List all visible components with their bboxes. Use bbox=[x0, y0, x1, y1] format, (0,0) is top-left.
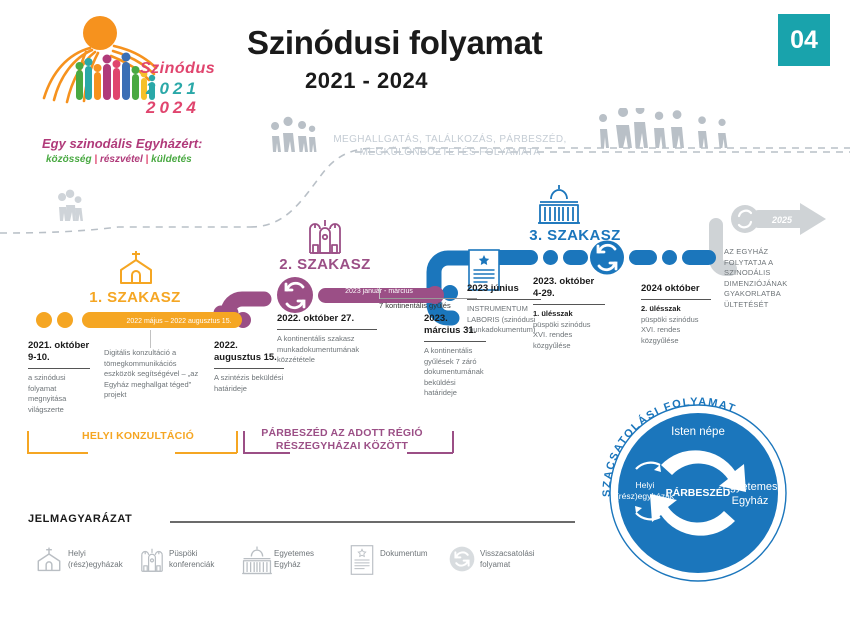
milestone-desc: A szintézis beküldési határideje bbox=[214, 373, 284, 394]
milestone-leader-line-digital bbox=[150, 330, 151, 348]
feedback-left-label-2: (rész)egyházak bbox=[616, 491, 675, 501]
bracket-local-label: HELYI KONZULTÁCIÓ bbox=[78, 430, 198, 443]
document-icon bbox=[350, 545, 374, 575]
legend-label: EgyetemesEgyház bbox=[274, 548, 354, 570]
feedback-left-label-1: Helyi bbox=[636, 480, 655, 490]
milestone-rule bbox=[533, 304, 605, 305]
milestone-rule bbox=[28, 368, 90, 369]
milestone-desc-bold: 1. ülésszak bbox=[533, 309, 605, 320]
future-year-label: 2025 bbox=[760, 215, 804, 225]
legend-label: Visszacsatolásifolyamat bbox=[480, 548, 560, 570]
milestone-desc: A kontinentális szakasz munkadokumentumá… bbox=[277, 334, 377, 366]
milestone-date: 2023. október 4-29. bbox=[533, 276, 605, 300]
milestone-rule bbox=[467, 299, 541, 300]
milestone-desc: A kontinentális gyűlések 7 záró dokument… bbox=[424, 346, 486, 399]
local-church-icon bbox=[34, 545, 64, 573]
milestone-date: 2024 október bbox=[641, 283, 711, 295]
milestone-2021-10: 2021. október 9-10. a szinódusi folyamat… bbox=[28, 340, 90, 415]
legend-item-universal-church: EgyetemesEgyház bbox=[240, 545, 274, 580]
milestone-desc: püspöki szinódus XVI. rendes közgyűlése bbox=[641, 315, 711, 347]
milestone-rule bbox=[424, 341, 486, 342]
milestone-leader-line-band2 bbox=[379, 288, 380, 299]
feedback-top-label: Isten népe bbox=[671, 426, 725, 438]
refresh-cycle-icon bbox=[448, 545, 476, 573]
legend-item-bishops-conference: Püspökikonferenciák bbox=[135, 545, 169, 578]
infographic-canvas: Szinódus 2021 2024 Egy szinodális Egyház… bbox=[0, 0, 850, 626]
logo-year-start: 2021 bbox=[146, 79, 200, 99]
cathedral-icon bbox=[135, 545, 169, 573]
legend-item-feedback-process: Visszacsatolásifolyamat bbox=[448, 545, 476, 578]
milestone-date: 2022. október 27. bbox=[277, 313, 377, 325]
page-title: Szinódusi folyamat bbox=[247, 24, 542, 62]
milestone-desc: püspöki szinódus XVI. rendes közgyűlése bbox=[533, 320, 605, 352]
page-subtitle: 2021 - 2024 bbox=[305, 68, 428, 94]
legend-label: Püspökikonferenciák bbox=[169, 548, 249, 570]
bracket-regional-label: PÁRBESZÉD AZ ADOTT RÉGIÓ RÉSZEGYHÁZAI KÖ… bbox=[252, 427, 432, 453]
milestone-digital-consultation: Digitális konzultáció a tömegkommunikáci… bbox=[104, 348, 200, 401]
milestone-desc: Digitális konzultáció a tömegkommunikáci… bbox=[104, 348, 200, 401]
feedback-process-diagram: VISSZACSATOLÁSI FOLYAMAT Isten népe PÁRB… bbox=[598, 393, 798, 593]
page-number-badge: 04 bbox=[778, 14, 830, 66]
stage1-band-label: 2022 május – 2022 augusztus 15. bbox=[104, 316, 254, 327]
milestone-rule bbox=[641, 299, 711, 300]
feedback-center-label: PÁRBESZÉD bbox=[666, 486, 731, 499]
legend-item-document: Dokumentum bbox=[350, 545, 374, 580]
basilica-icon bbox=[240, 545, 274, 575]
milestone-2022-08: 2022. augusztus 15. A szintézis beküldés… bbox=[214, 340, 284, 394]
milestone-desc-bold: 2. ülésszak bbox=[641, 304, 711, 315]
journey-caption: MEGHALLGATÁS, TALÁLKOZÁS, PÁRBESZÉD, MEG… bbox=[330, 133, 570, 159]
milestone-2022-10: 2022. október 27. A kontinentális szakas… bbox=[277, 313, 377, 366]
milestone-desc: INSTRUMENTUM LABORIS (szinódusi munkadok… bbox=[467, 304, 541, 336]
legend-item-local-church: Helyi(rész)egyházak bbox=[34, 545, 64, 578]
milestone-rule bbox=[277, 329, 377, 330]
final-outcome-note: AZ EGYHÁZ FOLYTATJA A SZINODÁLIS DIMENZI… bbox=[724, 247, 802, 310]
milestone-date: 2022. augusztus 15. bbox=[214, 340, 284, 364]
legend-title: JELMAGYARÁZAT bbox=[28, 513, 132, 525]
logo-synod-word: Szinódus bbox=[140, 60, 215, 78]
people-silhouettes-mid bbox=[271, 117, 316, 152]
feedback-right-label-2: Egyház bbox=[732, 495, 769, 507]
legend-divider bbox=[170, 521, 575, 523]
milestone-2023-06: 2023 június INSTRUMENTUM LABORIS (szinód… bbox=[467, 283, 541, 336]
feedback-right-label-1: Egyetemes bbox=[722, 481, 778, 493]
milestone-date: 2021. október 9-10. bbox=[28, 340, 90, 364]
milestone-2023-10: 2023. október 4-29. 1. ülésszak püspöki … bbox=[533, 276, 605, 351]
milestone-rule bbox=[214, 368, 284, 369]
milestone-desc: a szinódusi folyamat megnyitása világsze… bbox=[28, 373, 90, 415]
people-silhouettes-right bbox=[599, 108, 727, 148]
milestone-2024-10: 2024 október 2. ülésszak püspöki szinódu… bbox=[641, 283, 711, 346]
milestone-date: 2023 június bbox=[467, 283, 541, 295]
